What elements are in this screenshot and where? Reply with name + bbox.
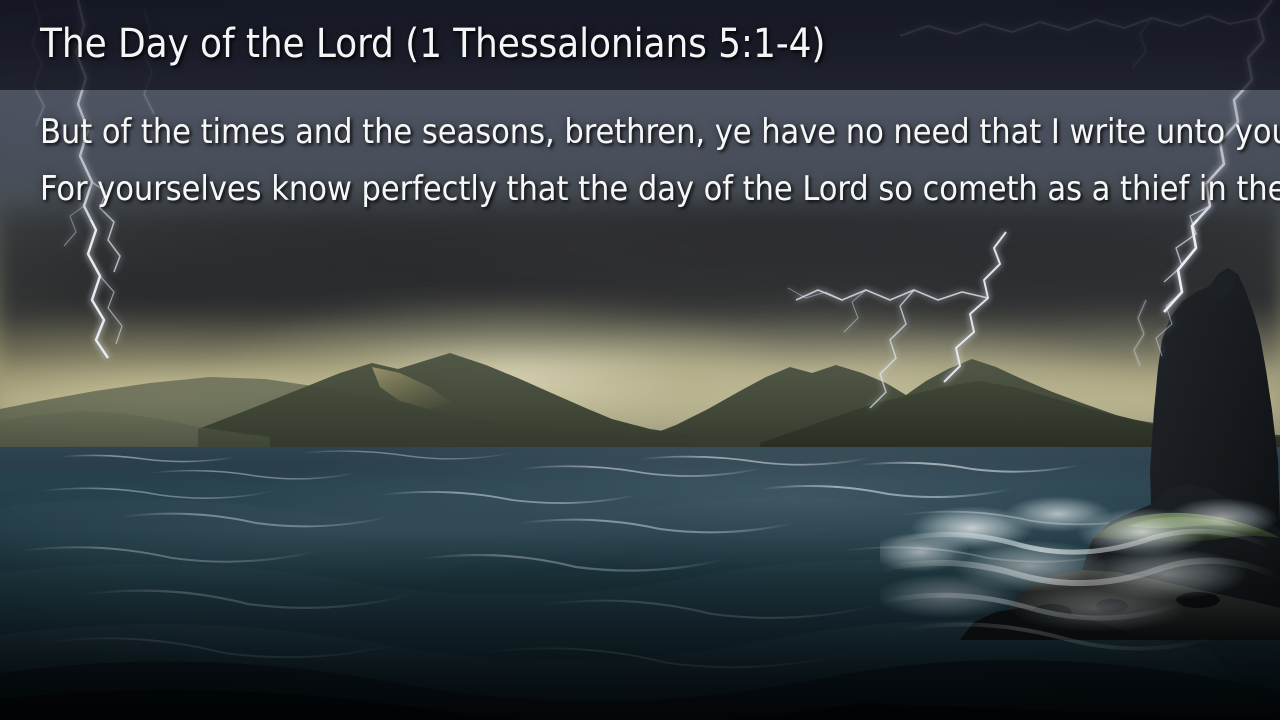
verse-line-2: For yourselves know perfectly that the d… — [40, 161, 1250, 218]
slide-title: The Day of the Lord (1 Thessalonians 5:1… — [40, 21, 825, 67]
lightning-bolt-center — [788, 232, 1006, 408]
verse-line-1: But of the times and the seasons, brethr… — [40, 104, 1250, 161]
presentation-slide: The Day of the Lord (1 Thessalonians 5:1… — [0, 0, 1280, 720]
scripture-verse-text: But of the times and the seasons, brethr… — [40, 104, 1250, 218]
